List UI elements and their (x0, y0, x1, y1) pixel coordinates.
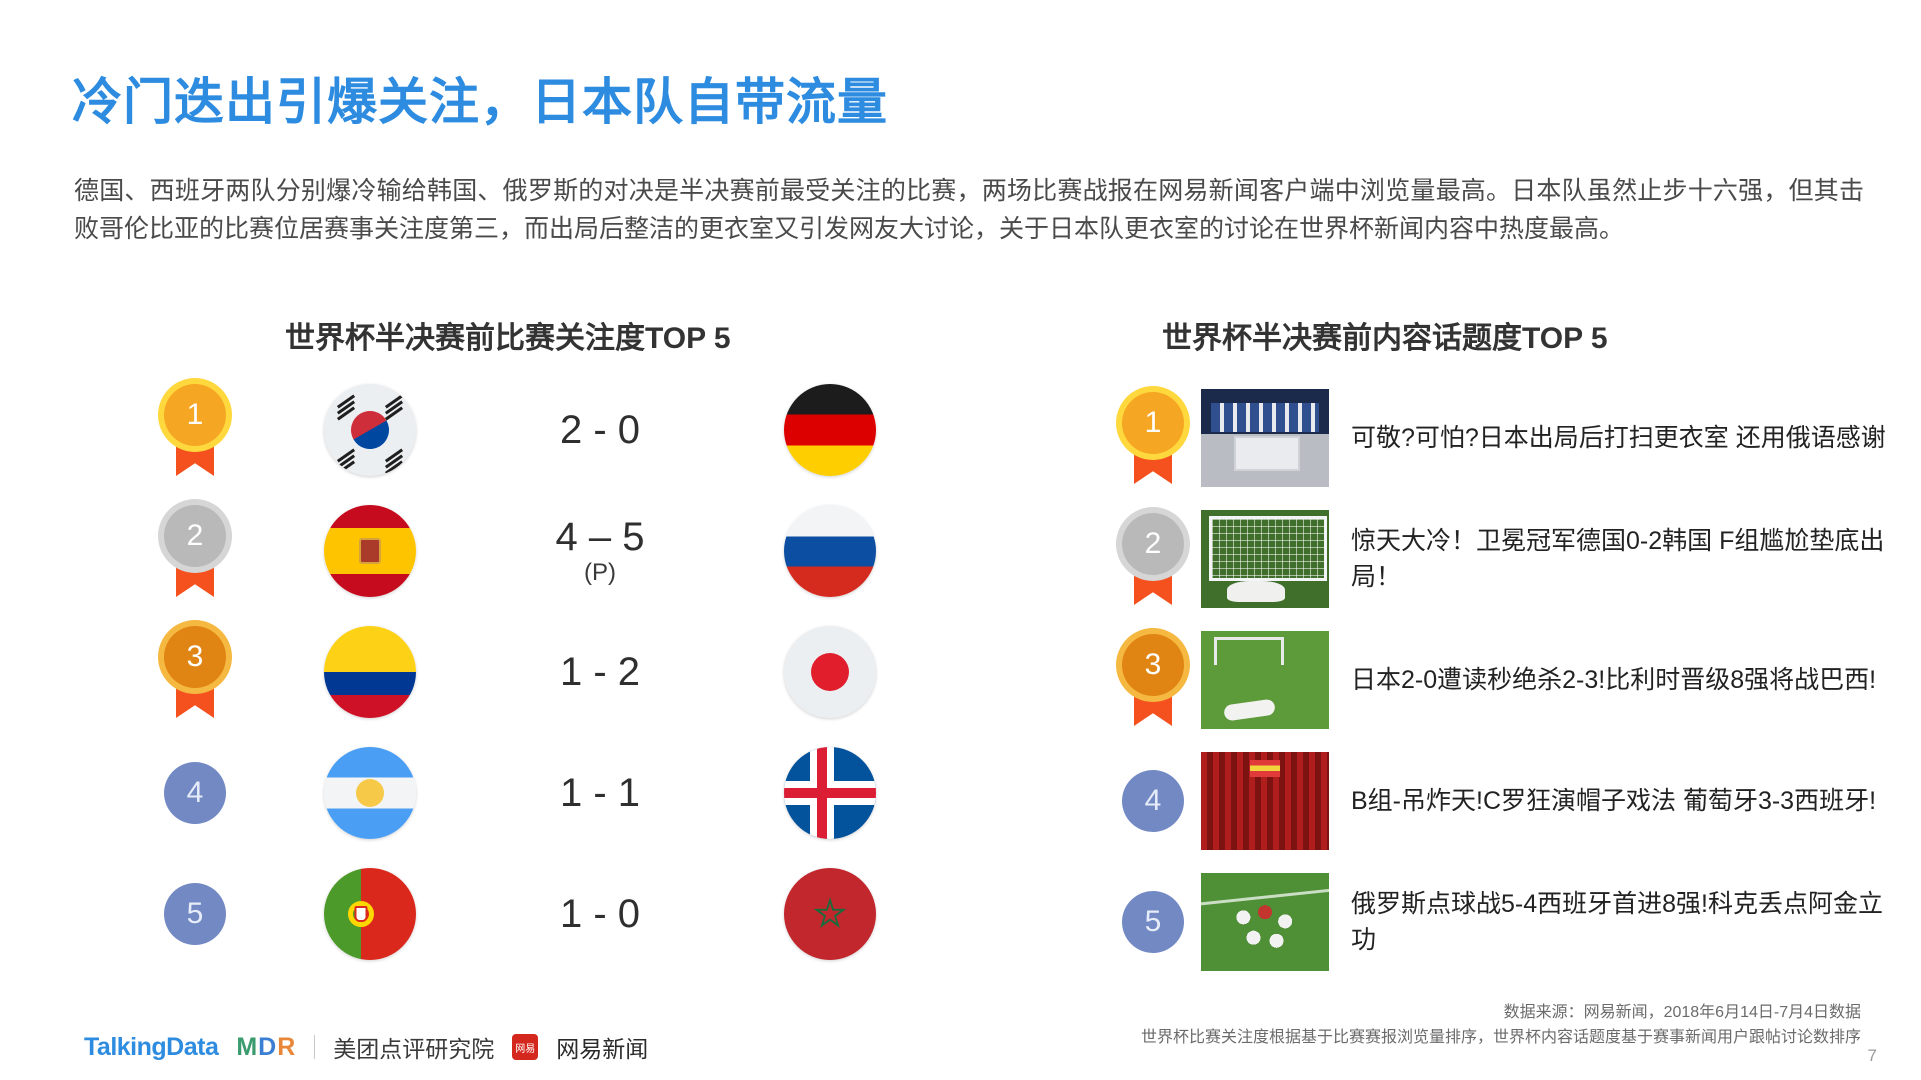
news-row[interactable]: 3日本2-0遭读秒绝杀2-3!比利时晋级8强将战巴西! (1105, 630, 1905, 730)
flag-icon-ru (784, 505, 876, 597)
away-team-cell (730, 747, 930, 839)
rank-badge-5: 5 (164, 883, 226, 945)
match-score: 1 - 1 (470, 772, 730, 814)
news-thumbnail-celebrate[interactable] (1201, 873, 1329, 971)
match-row: 31 - 2 (120, 622, 1000, 722)
rank-cell: 2 (120, 505, 270, 597)
flag-icon-pt (324, 868, 416, 960)
medal-icon-gold: 1 (164, 384, 226, 476)
away-team-cell (730, 868, 930, 960)
match-list: 12 - 024 – 5(P)31 - 241 - 151 - 0 (120, 380, 1000, 985)
news-row[interactable]: 5俄罗斯点球战5-4西班牙首进8强!科克丢点阿金立功 (1105, 872, 1905, 972)
rank-cell: 4 (120, 762, 270, 824)
news-title[interactable]: B组-吊炸天!C罗狂演帽子戏法 葡萄牙3-3西班牙! (1351, 783, 1905, 819)
news-title[interactable]: 可敬?可怕?日本出局后打扫更衣室 还用俄语感谢 (1351, 420, 1905, 456)
away-team-cell (730, 384, 930, 476)
rank-badge-1: 1 (1122, 392, 1184, 454)
match-row: 12 - 0 (120, 380, 1000, 480)
home-team-cell (270, 505, 470, 597)
rank-cell: 3 (1105, 634, 1201, 726)
logo-divider (314, 1035, 315, 1059)
medal-icon-bronze: 3 (164, 626, 226, 718)
methodology-note: 世界杯比赛关注度根据基于比赛赛报浏览量排序，世界杯内容话题度基于赛事新闻用户跟帖… (1141, 1025, 1861, 1050)
news-thumbnail-lockerroom[interactable] (1201, 389, 1329, 487)
match-row: 51 - 0 (120, 864, 1000, 964)
news-thumbnail-goal[interactable] (1201, 510, 1329, 608)
rank-badge-3: 3 (1122, 634, 1184, 696)
rank-cell: 5 (120, 883, 270, 945)
score-main: 2 - 0 (560, 408, 640, 452)
rank-cell: 2 (1105, 513, 1201, 605)
netease-news-logo: 网易新闻 (556, 1030, 648, 1064)
rank-badge-2: 2 (164, 505, 226, 567)
slide: 冷门迭出引爆关注，日本队自带流量 德国、西班牙两队分别爆冷输给韩国、俄罗斯的对决… (0, 0, 1921, 1080)
rank-cell: 3 (120, 626, 270, 718)
rank-cell: 5 (1105, 891, 1201, 953)
news-list: 1可敬?可怕?日本出局后打扫更衣室 还用俄语感谢2惊天大冷！卫冕冠军德国0-2韩… (1105, 388, 1905, 993)
medal-icon-silver: 2 (1122, 513, 1184, 605)
news-row[interactable]: 1可敬?可怕?日本出局后打扫更衣室 还用俄语感谢 (1105, 388, 1905, 488)
news-row[interactable]: 2惊天大冷！卫冕冠军德国0-2韩国 F组尴尬垫底出局！ (1105, 509, 1905, 609)
rank-cell: 4 (1105, 770, 1201, 832)
footnotes: 数据来源：网易新闻，2018年6月14日-7月4日数据 世界杯比赛关注度根据基于… (1141, 1000, 1861, 1050)
rank-cell: 1 (120, 384, 270, 476)
rank-badge-2: 2 (1122, 513, 1184, 575)
score-note: (P) (470, 560, 730, 585)
news-title[interactable]: 日本2-0遭读秒绝杀2-3!比利时晋级8强将战巴西! (1351, 662, 1905, 698)
score-main: 1 - 1 (560, 771, 640, 815)
medal-icon-bronze: 3 (1122, 634, 1184, 726)
news-title[interactable]: 俄罗斯点球战5-4西班牙首进8强!科克丢点阿金立功 (1351, 886, 1905, 958)
match-score: 4 – 5(P) (470, 516, 730, 585)
flag-icon-de (784, 384, 876, 476)
home-team-cell (270, 747, 470, 839)
rank-badge-1: 1 (164, 384, 226, 446)
score-main: 4 – 5 (556, 515, 645, 559)
match-score: 2 - 0 (470, 409, 730, 451)
match-score: 1 - 0 (470, 893, 730, 935)
flag-icon-es (324, 505, 416, 597)
news-thumbnail-crowd[interactable] (1201, 752, 1329, 850)
netease-badge-icon: 网易 (512, 1034, 538, 1060)
flag-icon-ar (324, 747, 416, 839)
rank-cell: 1 (1105, 392, 1201, 484)
score-main: 1 - 0 (560, 892, 640, 936)
flag-icon-kr (324, 384, 416, 476)
mdr-letter-r: R (277, 1033, 296, 1061)
away-team-cell (730, 505, 930, 597)
meituan-research-logo: 美团点评研究院 (333, 1030, 494, 1064)
flag-icon-co (324, 626, 416, 718)
news-title[interactable]: 惊天大冷！卫冕冠军德国0-2韩国 F组尴尬垫底出局！ (1351, 523, 1905, 595)
right-panel-heading: 世界杯半决赛前内容话题度TOP 5 (1162, 313, 1608, 357)
flag-icon-ma (784, 868, 876, 960)
rank-badge-4: 4 (1122, 770, 1184, 832)
home-team-cell (270, 868, 470, 960)
page-title: 冷门迭出引爆关注，日本队自带流量 (72, 62, 888, 134)
flag-icon-jp (784, 626, 876, 718)
home-team-cell (270, 384, 470, 476)
footer-logos: TalkingData MDR 美团点评研究院 网易 网易新闻 (84, 1030, 648, 1064)
score-main: 1 - 2 (560, 650, 640, 694)
page-number: 7 (1868, 1046, 1877, 1066)
rank-badge-4: 4 (164, 762, 226, 824)
medal-icon-gold: 1 (1122, 392, 1184, 484)
match-score: 1 - 2 (470, 651, 730, 693)
away-team-cell (730, 626, 930, 718)
news-row[interactable]: 4B组-吊炸天!C罗狂演帽子戏法 葡萄牙3-3西班牙! (1105, 751, 1905, 851)
medal-icon-silver: 2 (164, 505, 226, 597)
home-team-cell (270, 626, 470, 718)
match-row: 24 – 5(P) (120, 501, 1000, 601)
rank-badge-3: 3 (164, 626, 226, 688)
mdr-letter-d: D (258, 1033, 277, 1061)
data-source-note: 数据来源：网易新闻，2018年6月14日-7月4日数据 (1141, 1000, 1861, 1025)
mdr-letter-m: M (236, 1033, 258, 1061)
flag-icon-is (784, 747, 876, 839)
mdr-logo: MDR (236, 1033, 296, 1062)
news-thumbnail-pitch[interactable] (1201, 631, 1329, 729)
rank-badge-5: 5 (1122, 891, 1184, 953)
match-row: 41 - 1 (120, 743, 1000, 843)
talkingdata-logo: TalkingData (84, 1033, 218, 1062)
left-panel-heading: 世界杯半决赛前比赛关注度TOP 5 (285, 313, 731, 357)
intro-paragraph: 德国、西班牙两队分别爆冷输给韩国、俄罗斯的对决是半决赛前最受关注的比赛，两场比赛… (74, 172, 1864, 248)
